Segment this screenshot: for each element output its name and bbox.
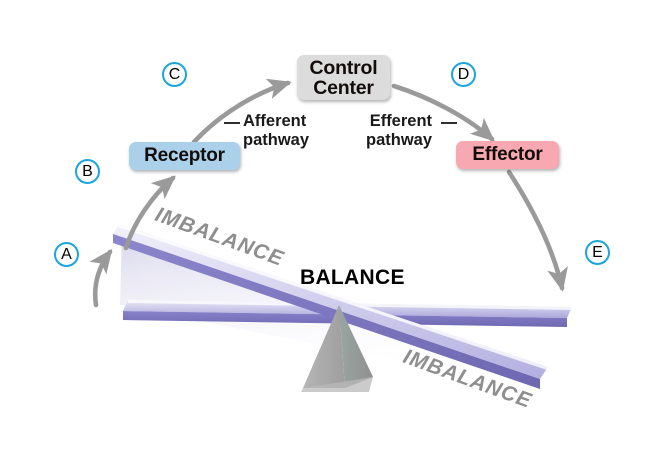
marker-a[interactable]: A [54, 242, 79, 267]
marker-e-letter: E [592, 244, 603, 262]
control-center-label-line1: Control [310, 57, 378, 79]
node-control-center[interactable]: Control Center [297, 55, 390, 100]
marker-c[interactable]: C [162, 62, 187, 87]
marker-e[interactable]: E [585, 240, 610, 265]
efferent-pathway-line2: pathway [366, 131, 432, 150]
arrow-beam-to-receptor-lower [95, 252, 110, 305]
node-effector[interactable]: Effector [456, 141, 559, 169]
afferent-pathway-line1: Afferent [243, 112, 309, 131]
control-center-label-line2: Center [313, 77, 374, 99]
marker-c-letter: C [169, 66, 181, 84]
efferent-pathway-label: Efferent pathway [366, 112, 432, 150]
balance-label: BALANCE [300, 266, 405, 290]
afferent-pathway-label: Afferent pathway [243, 112, 309, 150]
arrow-effector-to-beam [509, 172, 562, 288]
node-receptor[interactable]: Receptor [129, 142, 240, 170]
control-center-label: Control Center [310, 58, 378, 98]
marker-b[interactable]: B [75, 159, 100, 184]
marker-d-letter: D [458, 66, 470, 84]
diagram-canvas: Control Center Receptor Effector Afferen… [0, 0, 667, 456]
afferent-pathway-line2: pathway [243, 131, 309, 150]
marker-a-letter: A [61, 246, 72, 264]
marker-d[interactable]: D [451, 62, 476, 87]
marker-b-letter: B [82, 163, 93, 181]
effector-label: Effector [472, 144, 542, 166]
efferent-pathway-line1: Efferent [366, 112, 432, 131]
receptor-label: Receptor [144, 145, 225, 167]
